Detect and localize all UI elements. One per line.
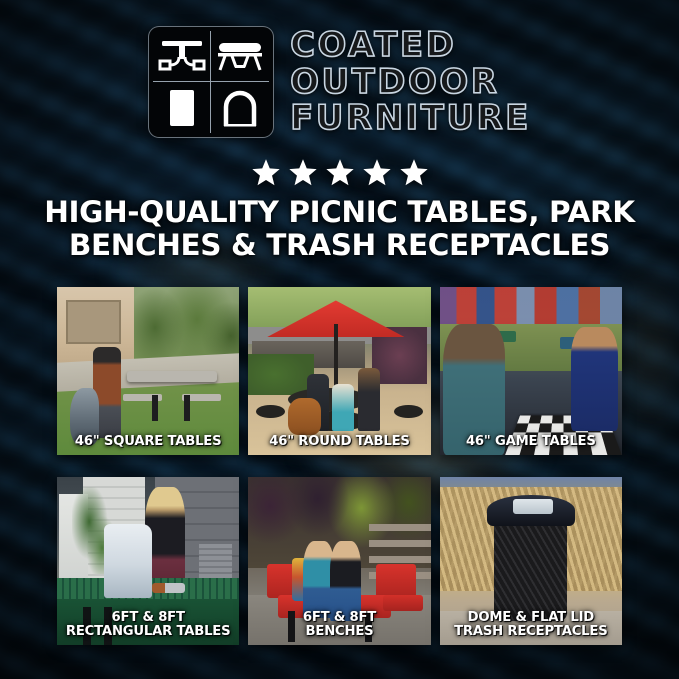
product-card-rectangular-tables[interactable]: 6FT & 8FT RECTANGULAR TABLES — [57, 477, 239, 645]
caption-line-1: 46" SQUARE TABLES — [61, 435, 235, 449]
product-card-round-tables[interactable]: 46" ROUND TABLES — [248, 287, 430, 455]
game-tables-photo — [440, 287, 622, 455]
caption-line-2: BENCHES — [252, 625, 426, 639]
product-caption: 46" ROUND TABLES — [252, 435, 426, 449]
trash-receptacle-icon — [153, 82, 211, 133]
advertisement-banner: COATED OUTDOOR FURNITURE HIGH-QUALITY PI… — [0, 0, 679, 679]
star-icon — [362, 158, 392, 187]
park-bench-icon — [211, 31, 269, 82]
banner-content: COATED OUTDOOR FURNITURE HIGH-QUALITY PI… — [0, 0, 679, 679]
product-caption: DOME & FLAT LID TRASH RECEPTACLES — [444, 611, 618, 639]
product-caption: 6FT & 8FT BENCHES — [252, 611, 426, 639]
product-caption: 46" SQUARE TABLES — [61, 435, 235, 449]
caption-line-1: 46" ROUND TABLES — [252, 435, 426, 449]
caption-line-2: RECTANGULAR TABLES — [61, 625, 235, 639]
star-icon — [325, 158, 355, 187]
product-card-game-tables[interactable]: 46" GAME TABLES — [440, 287, 622, 455]
headline: HIGH-QUALITY PICNIC TABLES, PARK BENCHES… — [30, 196, 649, 262]
star-icon — [288, 158, 318, 187]
product-card-square-tables[interactable]: 46" SQUARE TABLES — [57, 287, 239, 455]
logo-mark — [148, 26, 274, 138]
wordmark-line-2: OUTDOOR — [290, 65, 531, 101]
picnic-table-icon — [153, 31, 211, 82]
caption-line-2: TRASH RECEPTACLES — [444, 625, 618, 639]
headline-line-1: HIGH-QUALITY PICNIC TABLES, PARK — [30, 196, 649, 229]
wordmark-line-3: FURNITURE — [290, 101, 531, 137]
brand-wordmark: COATED OUTDOOR FURNITURE — [290, 26, 531, 137]
product-card-benches[interactable]: 6FT & 8FT BENCHES — [248, 477, 430, 645]
brand-logo: COATED OUTDOOR FURNITURE — [0, 26, 679, 138]
product-grid: 46" SQUARE TABLES 46" ROUND TABLES — [57, 287, 622, 645]
star-icon — [251, 158, 281, 187]
round-tables-photo — [248, 287, 430, 455]
star-icon — [399, 158, 429, 187]
logo-icon-grid — [153, 31, 269, 133]
caption-line-1: 46" GAME TABLES — [444, 435, 618, 449]
product-caption: 6FT & 8FT RECTANGULAR TABLES — [61, 611, 235, 639]
product-card-trash-receptacles[interactable]: DOME & FLAT LID TRASH RECEPTACLES — [440, 477, 622, 645]
headline-line-2: BENCHES & TRASH RECEPTACLES — [30, 229, 649, 262]
star-rating — [0, 158, 679, 187]
square-tables-photo — [57, 287, 239, 455]
bike-rack-icon — [211, 82, 269, 133]
wordmark-line-1: COATED — [290, 28, 531, 64]
product-caption: 46" GAME TABLES — [444, 435, 618, 449]
